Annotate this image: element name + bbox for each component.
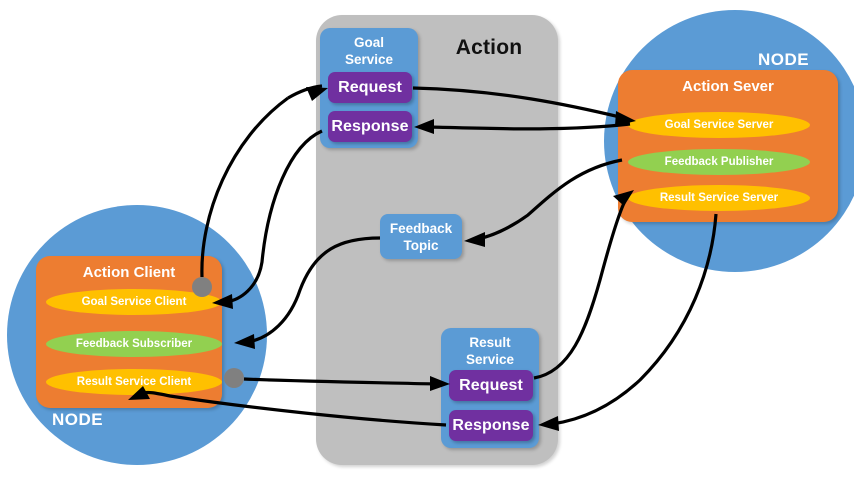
feedback-topic-text: Feedback Topic [390, 220, 452, 254]
goal-service-title-line2: Service [345, 52, 393, 67]
result-service-title-line1: Result [469, 335, 510, 350]
feedback-topic-box[interactable]: Feedback Topic [380, 214, 462, 259]
pill-result-service-client[interactable]: Result Service Client [46, 369, 222, 395]
connector-dot-goal-client [192, 277, 212, 297]
result-service-request-chip[interactable]: Request [449, 370, 533, 401]
goal-service-title: Goal Service [320, 34, 418, 68]
goal-service-response-chip[interactable]: Response [328, 111, 412, 142]
action-client-title: Action Client [36, 264, 222, 281]
goal-service-title-line1: Goal [354, 35, 384, 50]
pill-result-service-server[interactable]: Result Service Server [628, 185, 810, 211]
action-server-title: Action Sever [618, 78, 838, 95]
pill-feedback-subscriber[interactable]: Feedback Subscriber [46, 331, 222, 357]
goal-service-request-chip[interactable]: Request [328, 72, 412, 103]
result-service-title: Result Service [441, 334, 539, 368]
feedback-topic-line2: Topic [404, 238, 439, 253]
pill-feedback-publisher[interactable]: Feedback Publisher [628, 149, 810, 175]
pill-goal-service-server[interactable]: Goal Service Server [628, 112, 810, 138]
feedback-topic-line1: Feedback [390, 221, 452, 236]
action-group-label: Action [430, 36, 548, 60]
node-label-server: NODE [758, 50, 809, 70]
result-service-title-line2: Service [466, 352, 514, 367]
node-label-client: NODE [52, 410, 103, 430]
result-service-response-chip[interactable]: Response [449, 410, 533, 441]
connector-dot-result-client [224, 368, 244, 388]
diagram-canvas: Action NODE NODE Action Sever Goal Servi… [0, 0, 854, 480]
